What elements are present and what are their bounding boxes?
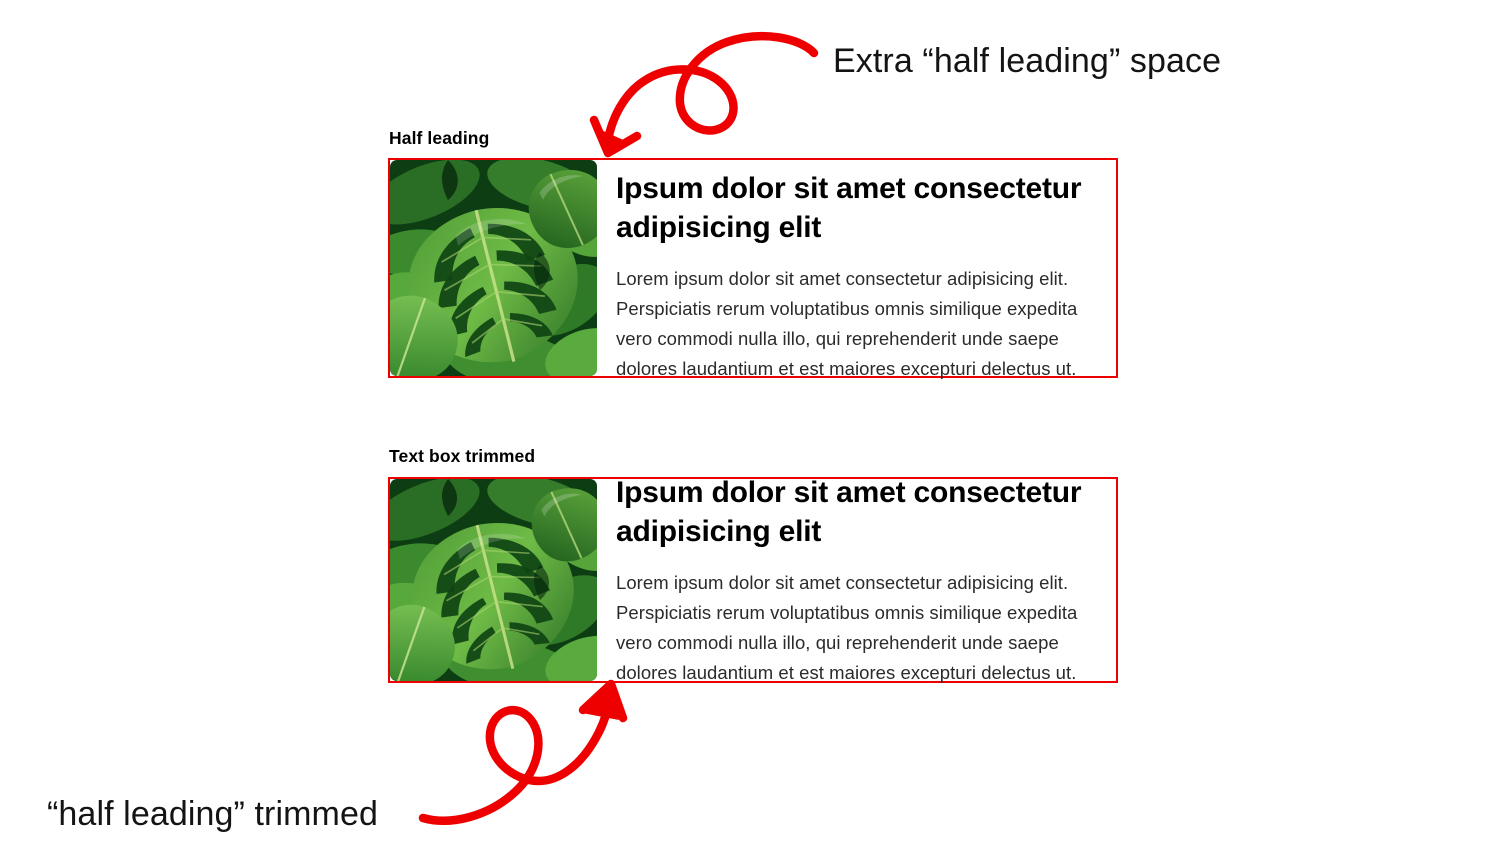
card-image-text-box-trimmed bbox=[390, 479, 597, 681]
card-text-trimmed: Ipsum dolor sit amet consectetur adipisi… bbox=[597, 479, 1116, 688]
canvas: Extra “half leading” space Half leading bbox=[0, 0, 1507, 863]
curly-arrow-down-left-icon bbox=[586, 20, 836, 170]
section-label-half-leading: Half leading bbox=[389, 128, 489, 149]
card-image-half-leading bbox=[390, 160, 597, 376]
card-text-half-leading: Ipsum dolor sit amet consectetur adipisi… bbox=[597, 160, 1116, 384]
curly-arrow-up-right-icon bbox=[415, 676, 665, 826]
card-paragraph: Lorem ipsum dolor sit amet consectetur a… bbox=[616, 568, 1108, 688]
card-heading: Ipsum dolor sit amet consectetur adipisi… bbox=[616, 169, 1110, 247]
annotation-top-label: Extra “half leading” space bbox=[833, 42, 1221, 81]
card-half-leading: Ipsum dolor sit amet consectetur adipisi… bbox=[388, 158, 1118, 378]
section-label-text-box-trimmed: Text box trimmed bbox=[389, 446, 535, 467]
card-text-box-trimmed: Ipsum dolor sit amet consectetur adipisi… bbox=[388, 477, 1118, 683]
card-paragraph: Lorem ipsum dolor sit amet consectetur a… bbox=[616, 264, 1108, 384]
card-heading: Ipsum dolor sit amet consectetur adipisi… bbox=[616, 473, 1110, 551]
annotation-bottom-label: “half leading” trimmed bbox=[47, 795, 378, 834]
